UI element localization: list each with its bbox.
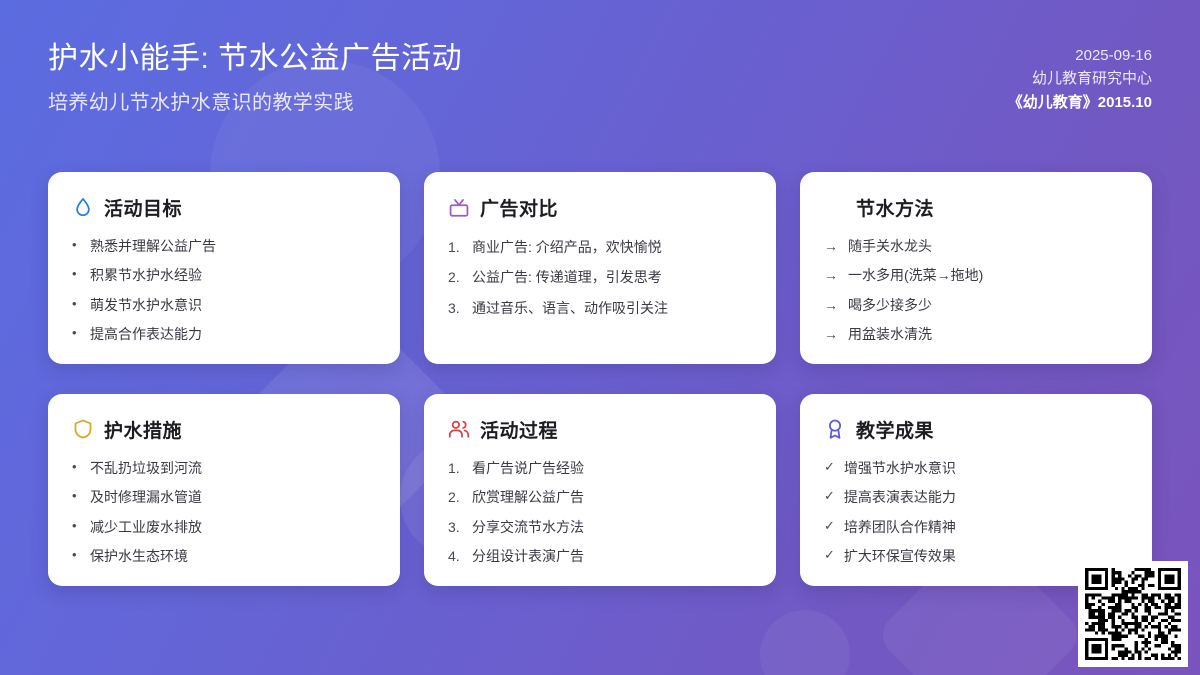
list-item: •积累节水护水经验 bbox=[72, 265, 376, 285]
list-item-text: 提高表演表达能力 bbox=[844, 487, 1128, 507]
list-item: •减少工业废水排放 bbox=[72, 517, 376, 537]
list-item: 2.公益广告: 传递道理，引发思考 bbox=[448, 267, 752, 287]
card-title: 教学成果 bbox=[856, 416, 934, 443]
blank-icon bbox=[824, 196, 846, 218]
list-item: ✓培养团队合作精神 bbox=[824, 517, 1128, 537]
card-list: 1.看广告说广告经验2.欣赏理解公益广告3.分享交流节水方法4.分组设计表演广告 bbox=[448, 458, 752, 575]
list-marker: → bbox=[824, 236, 839, 256]
shield-icon bbox=[72, 418, 94, 440]
list-item-text: 及时修理漏水管道 bbox=[90, 487, 376, 507]
title-block: 护水小能手: 节水公益广告活动 培养幼儿节水护水意识的教学实践 bbox=[48, 40, 462, 115]
list-item: •提高合作表达能力 bbox=[72, 324, 376, 344]
list-marker: 2. bbox=[448, 267, 463, 287]
list-marker: ✓ bbox=[824, 458, 835, 477]
card-header: 广告对比 bbox=[448, 194, 752, 221]
card-water-protection-measures: 护水措施•不乱扔垃圾到河流•及时修理漏水管道•减少工业废水排放•保护水生态环境 bbox=[48, 394, 400, 586]
list-item-text: 用盆装水清洗 bbox=[848, 324, 1128, 344]
list-marker: • bbox=[72, 295, 81, 314]
card-title: 节水方法 bbox=[856, 194, 934, 221]
list-item-text: 公益广告: 传递道理，引发思考 bbox=[472, 267, 752, 287]
list-item-text: 提高合作表达能力 bbox=[90, 324, 376, 344]
card-list: ✓增强节水护水意识✓提高表演表达能力✓培养团队合作精神✓扩大环保宣传效果 bbox=[824, 458, 1128, 575]
tv-icon bbox=[448, 197, 470, 219]
list-item: 4.分组设计表演广告 bbox=[448, 546, 752, 566]
list-marker: • bbox=[72, 487, 81, 506]
list-item: 1.商业广告: 介绍产品，欢快愉悦 bbox=[448, 237, 752, 257]
list-item: •保护水生态环境 bbox=[72, 546, 376, 566]
card-ad-comparison: 广告对比1.商业广告: 介绍产品，欢快愉悦2.公益广告: 传递道理，引发思考3.… bbox=[424, 172, 776, 364]
list-item: 2.欣赏理解公益广告 bbox=[448, 487, 752, 507]
list-item-text: 分组设计表演广告 bbox=[472, 546, 752, 566]
page-subtitle: 培养幼儿节水护水意识的教学实践 bbox=[48, 86, 462, 115]
card-list: 1.商业广告: 介绍产品，欢快愉悦2.公益广告: 传递道理，引发思考3.通过音乐… bbox=[448, 237, 752, 328]
list-item: •熟悉并理解公益广告 bbox=[72, 236, 376, 256]
meta-organization: 幼儿教育研究中心 bbox=[1032, 67, 1152, 90]
list-item: 3.通过音乐、语言、动作吸引关注 bbox=[448, 298, 752, 318]
list-marker: • bbox=[72, 458, 81, 477]
list-item: →随手关水龙头 bbox=[824, 236, 1128, 256]
meta-block: 2025-09-16 幼儿教育研究中心 《幼儿教育》2015.10 bbox=[1008, 40, 1152, 114]
list-marker: 1. bbox=[448, 458, 463, 478]
card-header: 活动过程 bbox=[448, 416, 752, 442]
card-title: 活动目标 bbox=[104, 194, 182, 221]
card-header: 护水措施 bbox=[72, 416, 376, 442]
list-marker: → bbox=[824, 295, 839, 315]
card-title: 活动过程 bbox=[480, 416, 558, 443]
background-circle-decoration bbox=[760, 610, 850, 675]
list-marker: • bbox=[72, 546, 81, 565]
list-marker: ✓ bbox=[824, 546, 835, 565]
list-marker: 3. bbox=[448, 298, 463, 318]
list-item-text: 看广告说广告经验 bbox=[472, 458, 752, 478]
list-item: •萌发节水护水意识 bbox=[72, 295, 376, 315]
list-item-text: 通过音乐、语言、动作吸引关注 bbox=[472, 298, 752, 318]
list-item: 1.看广告说广告经验 bbox=[448, 458, 752, 478]
card-header: 教学成果 bbox=[824, 416, 1128, 442]
list-marker: 3. bbox=[448, 517, 463, 537]
list-item: ✓提高表演表达能力 bbox=[824, 487, 1128, 507]
list-item: →一水多用(洗菜→拖地) bbox=[824, 265, 1128, 285]
list-item-text: 一水多用(洗菜→拖地) bbox=[848, 265, 1128, 285]
list-item-text: 减少工业废水排放 bbox=[90, 517, 376, 537]
card-activity-process: 活动过程1.看广告说广告经验2.欣赏理解公益广告3.分享交流节水方法4.分组设计… bbox=[424, 394, 776, 586]
list-marker: • bbox=[72, 324, 81, 343]
card-list: →随手关水龙头→一水多用(洗菜→拖地)→喝多少接多少→用盆装水清洗 bbox=[824, 236, 1128, 353]
list-item-text: 增强节水护水意识 bbox=[844, 458, 1128, 478]
list-item-text: 喝多少接多少 bbox=[848, 295, 1128, 315]
slide-header: 护水小能手: 节水公益广告活动 培养幼儿节水护水意识的教学实践 2025-09-… bbox=[0, 0, 1200, 150]
list-item-text: 保护水生态环境 bbox=[90, 546, 376, 566]
award-icon bbox=[824, 418, 846, 440]
list-marker: • bbox=[72, 265, 81, 284]
card-activity-goals: 活动目标•熟悉并理解公益广告•积累节水护水经验•萌发节水护水意识•提高合作表达能… bbox=[48, 172, 400, 364]
list-item: →喝多少接多少 bbox=[824, 295, 1128, 315]
card-list: •熟悉并理解公益广告•积累节水护水经验•萌发节水护水意识•提高合作表达能力 bbox=[72, 236, 376, 353]
list-item-text: 欣赏理解公益广告 bbox=[472, 487, 752, 507]
users-icon bbox=[448, 418, 470, 440]
qr-code-container[interactable] bbox=[1078, 561, 1188, 667]
list-item: 3.分享交流节水方法 bbox=[448, 517, 752, 537]
card-title: 广告对比 bbox=[480, 194, 558, 221]
card-teaching-outcomes: 教学成果✓增强节水护水意识✓提高表演表达能力✓培养团队合作精神✓扩大环保宣传效果 bbox=[800, 394, 1152, 586]
list-item-text: 培养团队合作精神 bbox=[844, 517, 1128, 537]
water-drop-icon bbox=[72, 196, 94, 218]
list-marker: 2. bbox=[448, 487, 463, 507]
card-header: 活动目标 bbox=[72, 194, 376, 220]
list-marker: ✓ bbox=[824, 487, 835, 506]
list-item: •及时修理漏水管道 bbox=[72, 487, 376, 507]
meta-source: 《幼儿教育》2015.10 bbox=[1008, 91, 1152, 114]
list-marker: 1. bbox=[448, 237, 463, 257]
list-marker: • bbox=[72, 236, 81, 255]
list-marker: 4. bbox=[448, 546, 463, 566]
card-header: 节水方法 bbox=[824, 194, 1128, 220]
meta-date: 2025-09-16 bbox=[1075, 44, 1152, 67]
list-marker: • bbox=[72, 517, 81, 536]
list-item-text: 积累节水护水经验 bbox=[90, 265, 376, 285]
list-item: ✓增强节水护水意识 bbox=[824, 458, 1128, 478]
list-item: →用盆装水清洗 bbox=[824, 324, 1128, 344]
card-title: 护水措施 bbox=[104, 416, 182, 443]
card-water-saving-methods: 节水方法→随手关水龙头→一水多用(洗菜→拖地)→喝多少接多少→用盆装水清洗 bbox=[800, 172, 1152, 364]
qr-code bbox=[1085, 568, 1181, 660]
list-item: •不乱扔垃圾到河流 bbox=[72, 458, 376, 478]
card-grid: 活动目标•熟悉并理解公益广告•积累节水护水经验•萌发节水护水意识•提高合作表达能… bbox=[48, 172, 1152, 586]
list-item-text: 不乱扔垃圾到河流 bbox=[90, 458, 376, 478]
list-item-text: 分享交流节水方法 bbox=[472, 517, 752, 537]
list-item-text: 萌发节水护水意识 bbox=[90, 295, 376, 315]
page-title: 护水小能手: 节水公益广告活动 bbox=[48, 40, 462, 78]
list-item-text: 商业广告: 介绍产品，欢快愉悦 bbox=[472, 237, 752, 257]
card-list: •不乱扔垃圾到河流•及时修理漏水管道•减少工业废水排放•保护水生态环境 bbox=[72, 458, 376, 575]
list-item-text: 熟悉并理解公益广告 bbox=[90, 236, 376, 256]
list-marker: ✓ bbox=[824, 517, 835, 536]
list-marker: → bbox=[824, 265, 839, 285]
list-item-text: 随手关水龙头 bbox=[848, 236, 1128, 256]
list-marker: → bbox=[824, 324, 839, 344]
